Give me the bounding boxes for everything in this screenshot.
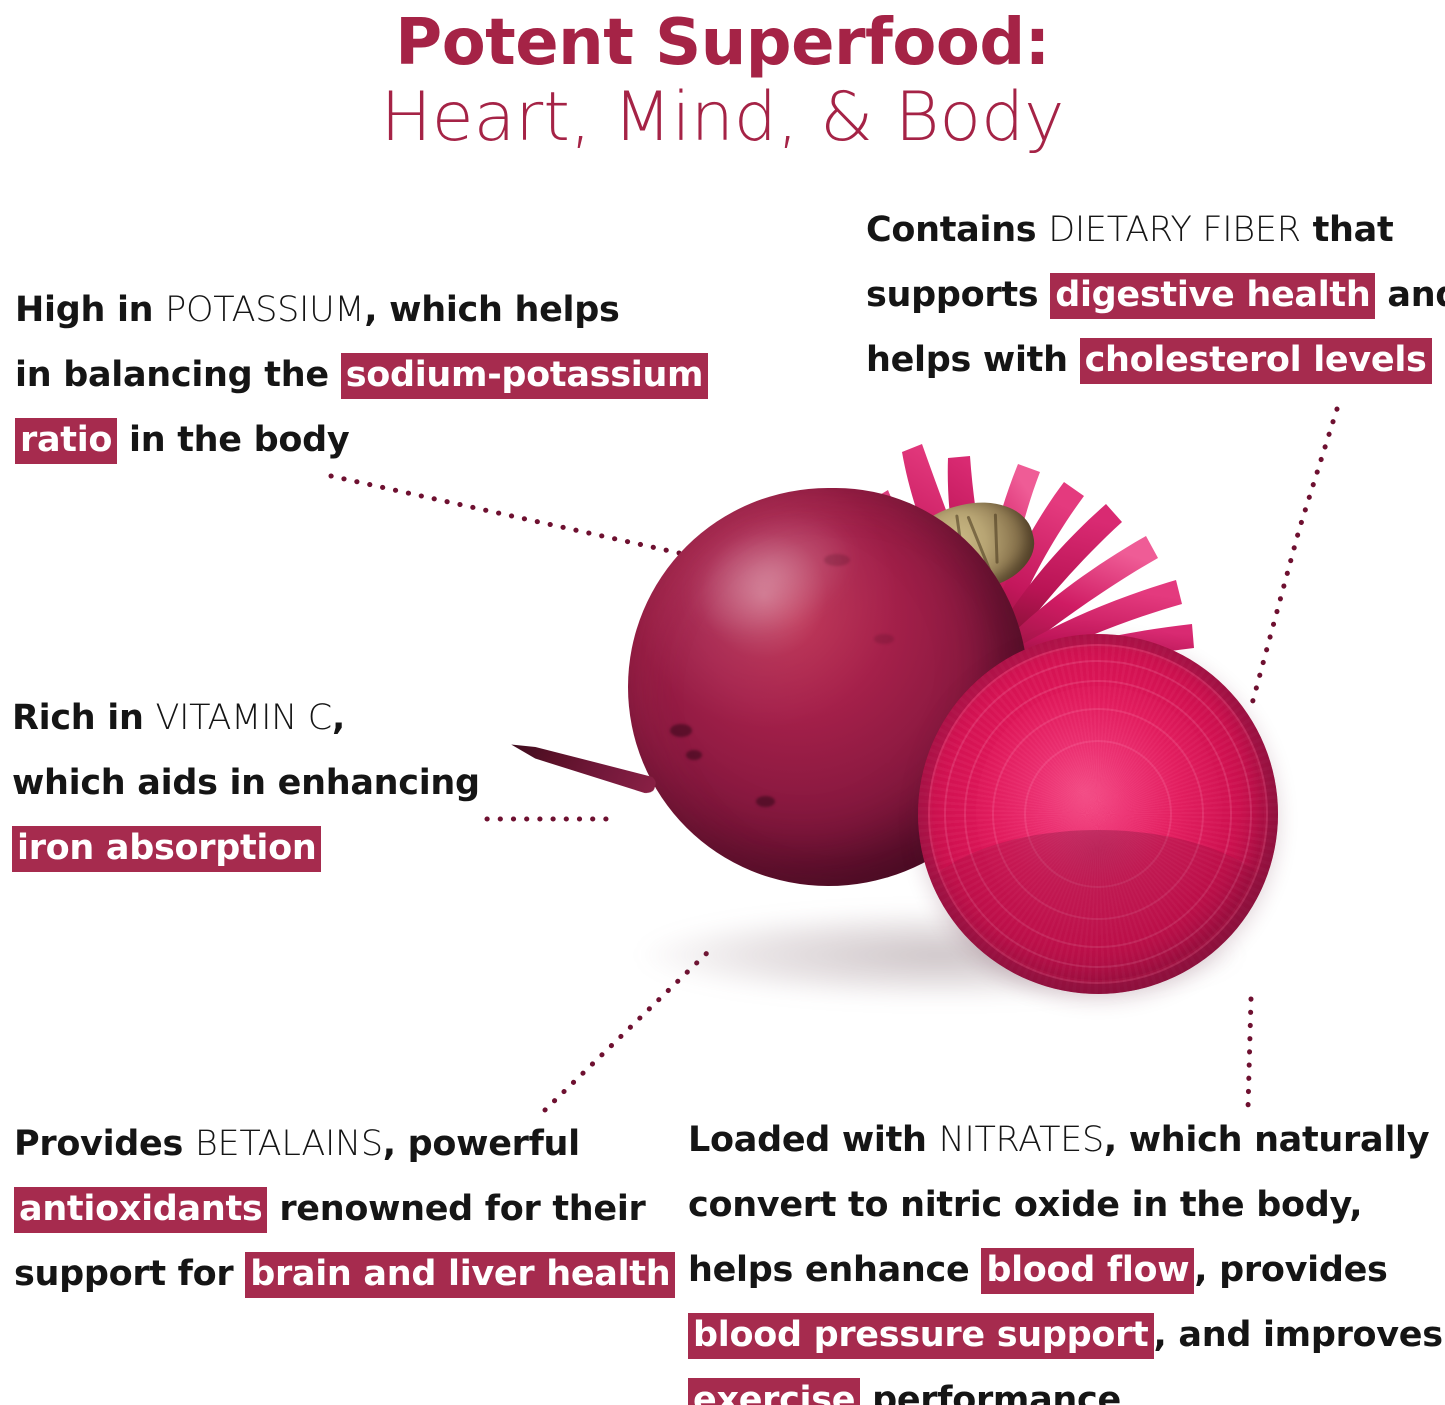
fact-betalains: Provides BETALAINS, powerfulantioxidants…: [14, 1112, 675, 1307]
title-line-2: Heart, Mind, & Body: [0, 80, 1445, 156]
highlighted-phrase: ratio: [15, 418, 117, 464]
text-run: , provides: [1194, 1250, 1387, 1290]
text-run: Loaded with: [688, 1120, 939, 1160]
text-run: BETALAINS: [195, 1124, 383, 1164]
text-run: support for: [14, 1254, 245, 1294]
text-run: convert to nitric oxide in the body,: [688, 1185, 1362, 1225]
highlighted-phrase: exercise: [688, 1378, 860, 1405]
highlighted-phrase: sodium-potassium: [341, 353, 709, 399]
fact-line: exercise performance: [688, 1368, 1443, 1405]
fact-line: iron absorption: [12, 816, 480, 881]
text-run: NITRATES: [939, 1120, 1104, 1160]
highlighted-phrase: antioxidants: [14, 1187, 267, 1233]
page-title: Potent Superfood: Heart, Mind, & Body: [0, 0, 1445, 156]
fact-line: helps with cholesterol levels: [866, 328, 1445, 393]
text-run: POTASSIUM: [165, 290, 364, 330]
fact-line: Rich in VITAMIN C,: [12, 686, 480, 751]
fact-line: antioxidants renowned for their: [14, 1177, 675, 1242]
highlighted-phrase: blood flow: [981, 1248, 1194, 1294]
text-run: helps enhance: [688, 1250, 981, 1290]
fact-line: helps enhance blood flow, provides: [688, 1238, 1443, 1303]
text-run: Rich in: [12, 698, 156, 738]
text-run: Provides: [14, 1124, 195, 1164]
fact-dietary-fiber: Contains DIETARY FIBER thatsupports dige…: [866, 198, 1445, 393]
text-run: helps with: [866, 340, 1080, 380]
fact-nitrates: Loaded with NITRATES, which naturallycon…: [688, 1108, 1443, 1405]
text-run: Contains: [866, 210, 1048, 250]
text-run: , which helps: [364, 290, 619, 330]
fact-line: Loaded with NITRATES, which naturally: [688, 1108, 1443, 1173]
fact-vitamin-c: Rich in VITAMIN C,which aids in enhancin…: [12, 686, 480, 881]
text-run: , powerful: [383, 1124, 580, 1164]
infographic-page: Potent Superfood: Heart, Mind, & Body: [0, 0, 1445, 1405]
text-run: in balancing the: [15, 355, 341, 395]
text-run: VITAMIN C: [156, 698, 332, 738]
text-run: DIETARY FIBER: [1048, 210, 1300, 250]
highlighted-phrase: brain and liver health: [245, 1252, 675, 1298]
highlighted-phrase: iron absorption: [12, 826, 321, 872]
fact-line: in balancing the sodium-potassium: [15, 343, 708, 408]
highlighted-phrase: cholesterol levels: [1080, 338, 1432, 384]
fact-line: convert to nitric oxide in the body,: [688, 1173, 1443, 1238]
text-run: High in: [15, 290, 165, 330]
beetroot-image: [600, 390, 1320, 1050]
fact-line: supports digestive health and: [866, 263, 1445, 328]
text-run: , and improves: [1154, 1315, 1443, 1355]
fact-line: blood pressure support, and improves: [688, 1303, 1443, 1368]
text-run: in the body: [117, 420, 349, 460]
text-run: ,: [332, 698, 345, 738]
fact-line: Contains DIETARY FIBER that: [866, 198, 1445, 263]
fact-line: which aids in enhancing: [12, 751, 480, 816]
fact-potassium: High in POTASSIUM, which helpsin balanci…: [15, 278, 708, 473]
text-run: and: [1375, 275, 1445, 315]
text-run: performance: [860, 1380, 1121, 1405]
text-run: which aids in enhancing: [12, 763, 480, 803]
highlighted-phrase: blood pressure support: [688, 1313, 1154, 1359]
text-run: renowned for their: [267, 1189, 645, 1229]
text-run: , which naturally: [1104, 1120, 1429, 1160]
title-line-1: Potent Superfood:: [0, 6, 1445, 80]
fact-line: Provides BETALAINS, powerful: [14, 1112, 675, 1177]
fact-line: High in POTASSIUM, which helps: [15, 278, 708, 343]
fact-line: ratio in the body: [15, 408, 708, 473]
text-run: that: [1301, 210, 1394, 250]
beet-cut-half: [918, 634, 1278, 994]
fact-line: support for brain and liver health: [14, 1242, 675, 1307]
highlighted-phrase: digestive health: [1050, 273, 1375, 319]
text-run: supports: [866, 275, 1050, 315]
